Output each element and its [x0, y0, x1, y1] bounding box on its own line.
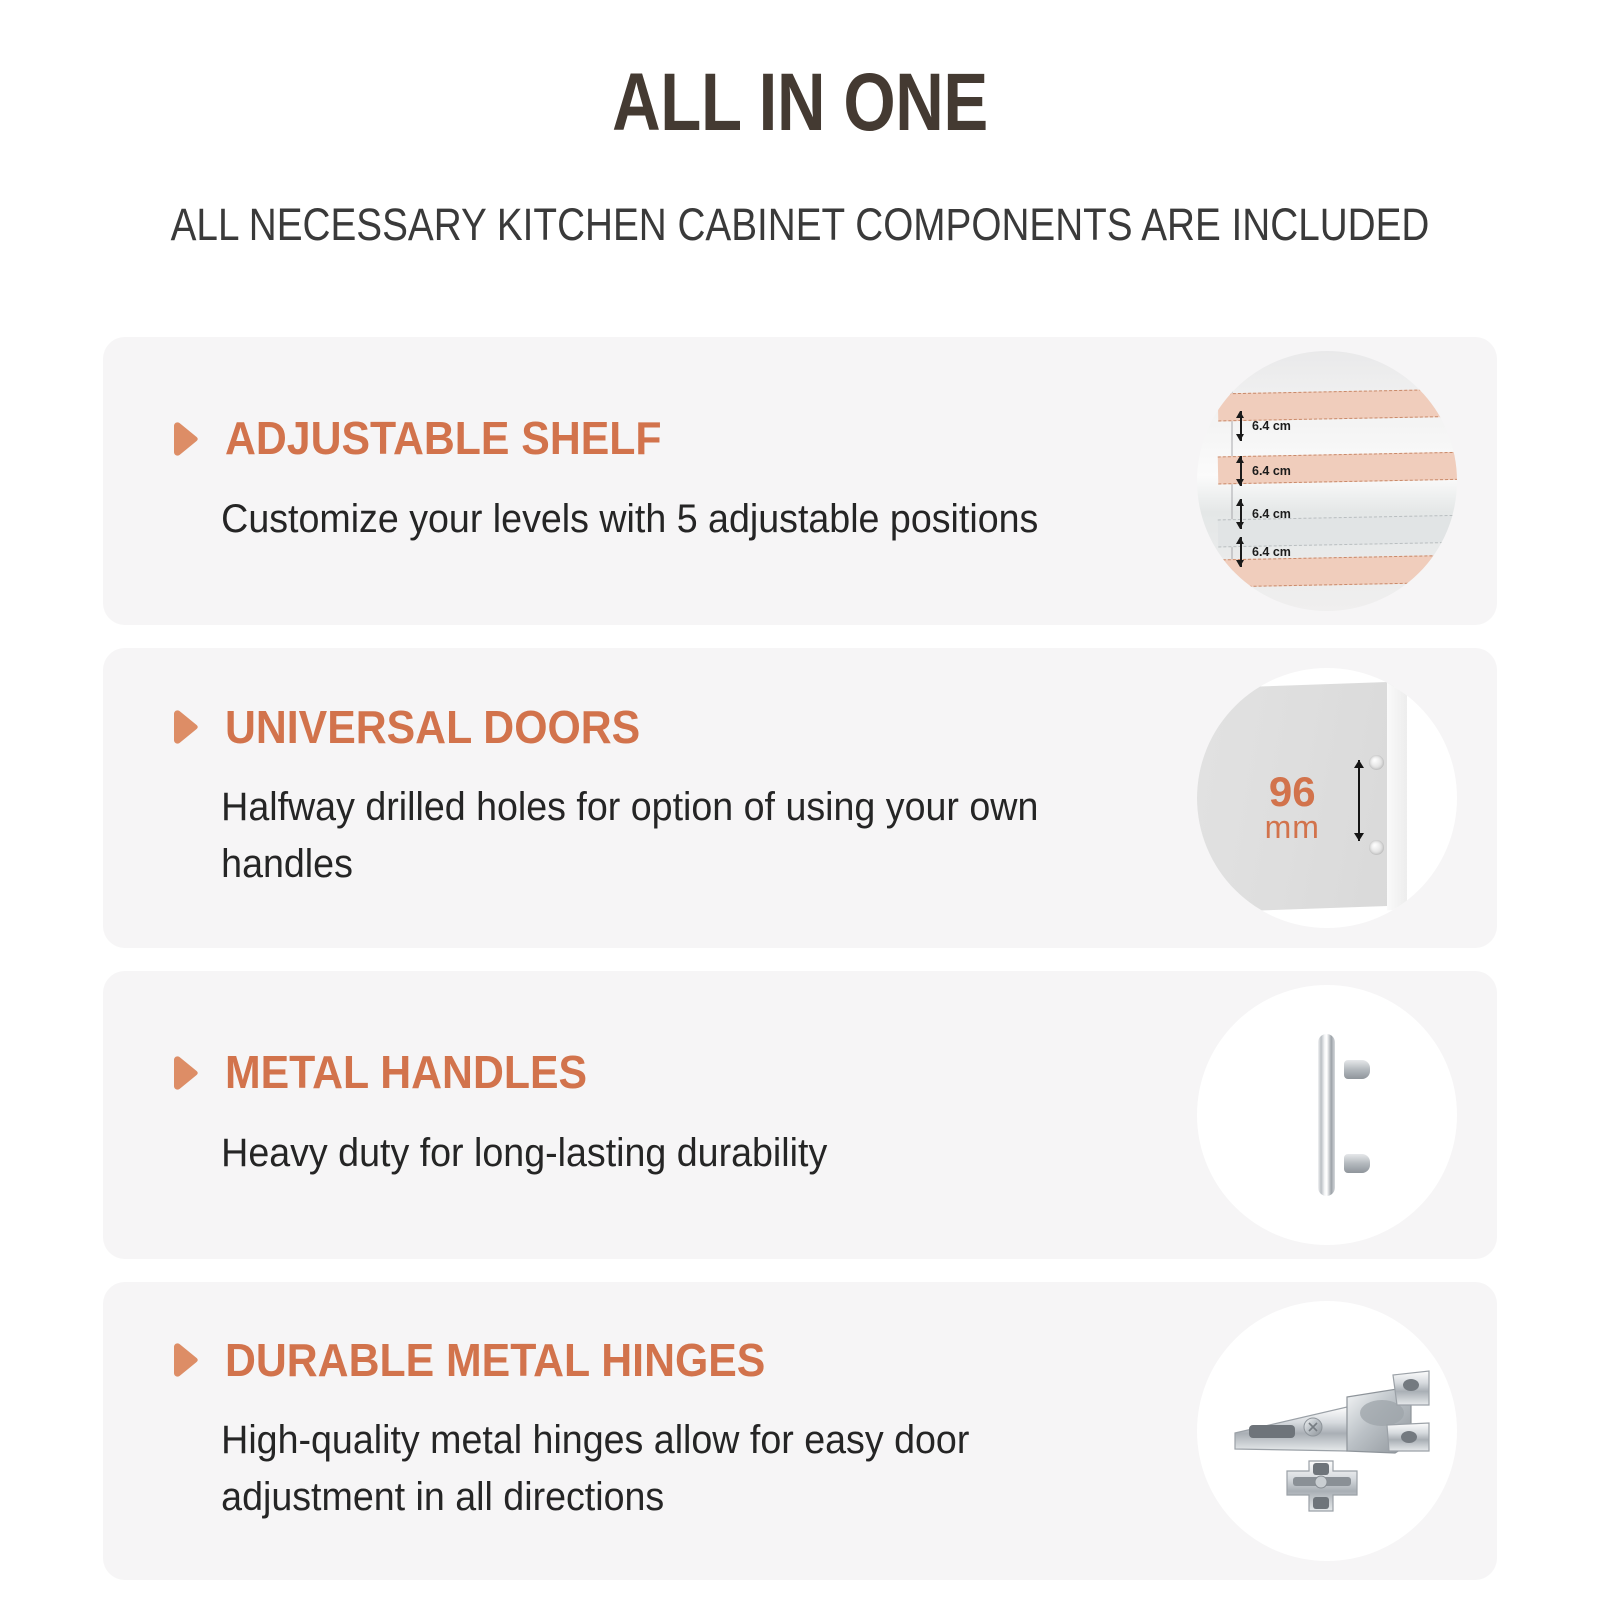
door-measure-value: 96	[1265, 772, 1320, 812]
page-subtitle: ALL NECESSARY KITCHEN CABINET COMPONENTS…	[112, 144, 1488, 247]
card-heading: METAL HANDLES	[225, 1048, 587, 1096]
card-text-block: ADJUSTABLE SHELF Customize your levels w…	[103, 414, 1123, 547]
card-description: Heavy duty for long-lasting durability	[161, 1125, 1065, 1182]
card-description: Halfway drilled holes for option of usin…	[161, 779, 1065, 893]
shelf-dimension-1: 6.4 cm	[1236, 411, 1291, 441]
cabinet-hinge-photo	[1197, 1301, 1457, 1561]
card-media-hinge	[1197, 1301, 1457, 1561]
feature-card-metal-handles[interactable]: METAL HANDLES Heavy duty for long-lastin…	[103, 971, 1497, 1259]
feature-card-list: ADJUSTABLE SHELF Customize your levels w…	[103, 337, 1497, 1603]
triangle-right-icon	[161, 1338, 205, 1382]
page-title: ALL IN ONE	[144, 62, 1456, 144]
card-heading-row: UNIVERSAL DOORS	[161, 703, 1123, 751]
handle-mount-post	[1344, 1060, 1370, 1079]
triangle-right-icon	[161, 417, 205, 461]
card-description: Customize your levels with 5 adjustable …	[161, 491, 1065, 548]
card-heading: ADJUSTABLE SHELF	[225, 414, 662, 462]
feature-card-durable-metal-hinges[interactable]: DURABLE METAL HINGES High-quality metal …	[103, 1282, 1497, 1580]
bar-handle-photo	[1197, 985, 1457, 1245]
card-text-block: DURABLE METAL HINGES High-quality metal …	[103, 1336, 1123, 1526]
door-drill-hole	[1369, 755, 1384, 770]
card-heading: DURABLE METAL HINGES	[225, 1336, 765, 1384]
card-media-door: 96 mm	[1197, 668, 1457, 928]
page-header: ALL IN ONE ALL NECESSARY KITCHEN CABINET…	[0, 0, 1600, 247]
card-heading-row: METAL HANDLES	[161, 1048, 1123, 1096]
card-text-block: METAL HANDLES Heavy duty for long-lastin…	[103, 1048, 1123, 1181]
shelf-dimension-label: 6.4 cm	[1252, 545, 1291, 559]
card-heading: UNIVERSAL DOORS	[225, 703, 640, 751]
shelf-dimension-label: 6.4 cm	[1252, 464, 1291, 478]
triangle-right-icon	[161, 1051, 205, 1095]
triangle-right-icon	[161, 705, 205, 749]
shelf-dimension-3: 6.4 cm	[1236, 499, 1291, 529]
shelf-dimension-label: 6.4 cm	[1252, 419, 1291, 433]
card-text-block: UNIVERSAL DOORS Halfway drilled holes fo…	[103, 703, 1123, 893]
card-heading-row: DURABLE METAL HINGES	[161, 1336, 1123, 1384]
card-media-handle	[1197, 985, 1457, 1245]
feature-card-universal-doors[interactable]: UNIVERSAL DOORS Halfway drilled holes fo…	[103, 648, 1497, 948]
shelf-dimension-2: 6.4 cm	[1236, 456, 1291, 486]
shelf-dimension-4: 6.4 cm	[1236, 537, 1291, 567]
handle-mount-post	[1344, 1154, 1370, 1173]
cabinet-door-photo: 96 mm	[1197, 668, 1457, 928]
door-dimension-arrow	[1354, 760, 1364, 841]
door-drill-hole	[1369, 840, 1384, 855]
card-media-shelf: 6.4 cm 6.4 cm 6.4 cm 6.4 cm	[1197, 351, 1457, 611]
door-measure-unit: mm	[1265, 812, 1320, 842]
handle-bar	[1318, 1034, 1335, 1195]
door-measure-label: 96 mm	[1265, 772, 1320, 842]
shelf-dimension-label: 6.4 cm	[1252, 507, 1291, 521]
shelf-holes-photo: 6.4 cm 6.4 cm 6.4 cm 6.4 cm	[1197, 351, 1457, 611]
card-description: High-quality metal hinges allow for easy…	[161, 1412, 1065, 1526]
card-heading-row: ADJUSTABLE SHELF	[161, 414, 1123, 462]
feature-card-adjustable-shelf[interactable]: ADJUSTABLE SHELF Customize your levels w…	[103, 337, 1497, 625]
